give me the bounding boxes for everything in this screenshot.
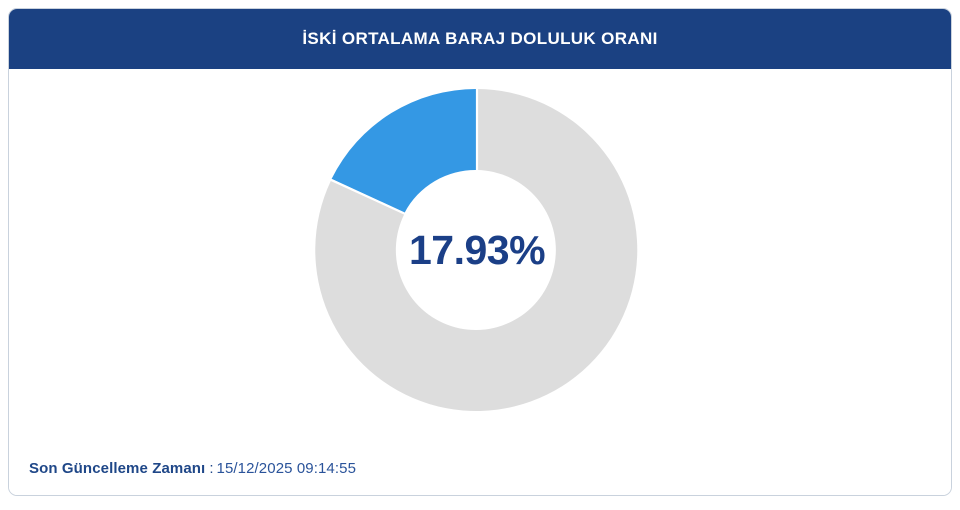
page-title: İSKİ ORTALAMA BARAJ DOLULUK ORANI	[302, 29, 657, 49]
last-update-label: Son Güncelleme Zamanı	[29, 460, 205, 477]
card-header: İSKİ ORTALAMA BARAJ DOLULUK ORANI	[9, 9, 951, 69]
last-update-separator: :	[205, 460, 216, 477]
donut-chart-svg	[312, 85, 642, 415]
last-update-timestamp: 15/12/2025 09:14:55	[217, 460, 357, 477]
dam-occupancy-widget: İSKİ ORTALAMA BARAJ DOLULUK ORANI 17.93%	[8, 8, 952, 496]
card-body: 17.93% Son Güncelleme Zamanı : 15/12/202…	[9, 69, 951, 495]
chart-area: 17.93%	[9, 69, 951, 427]
donut-chart: 17.93%	[312, 85, 642, 415]
last-update-footer: Son Güncelleme Zamanı : 15/12/2025 09:14…	[29, 460, 931, 477]
